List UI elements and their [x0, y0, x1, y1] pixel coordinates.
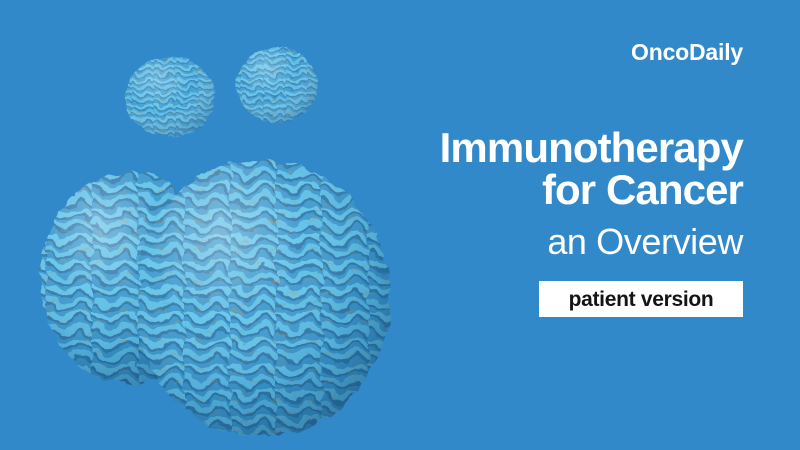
status-badge-label: patient version [569, 289, 714, 310]
cell-small-right [232, 40, 327, 135]
page-subtitle: an Overview [547, 224, 743, 260]
status-badge: patient version [539, 281, 743, 317]
page-title: Immunotherapy for Cancer [440, 127, 743, 210]
promo-banner: OncoDaily Immunotherapy for Cancer an Ov… [0, 0, 800, 450]
title-text-block: OncoDaily Immunotherapy for Cancer an Ov… [323, 0, 743, 450]
brand-wordmark: OncoDaily [631, 41, 743, 64]
cell-large-back [35, 168, 230, 393]
page-title-line-2: for Cancer [440, 169, 743, 211]
cell-small-left [120, 50, 225, 150]
page-title-line-1: Immunotherapy [440, 127, 743, 169]
